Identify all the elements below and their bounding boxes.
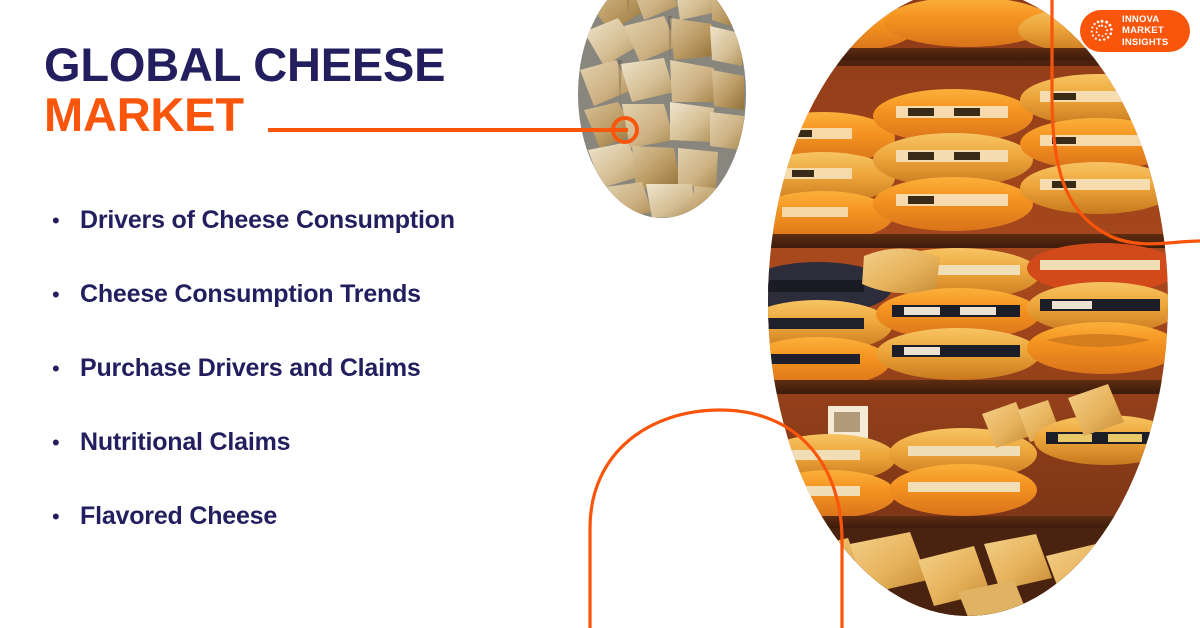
list-item-label: Drivers of Cheese Consumption: [80, 206, 455, 235]
poster-canvas: GLOBAL CHEESE MARKET • Drivers of Cheese…: [0, 0, 1200, 628]
bullet-dot-icon: •: [52, 210, 80, 232]
dots-ring-icon: [1089, 18, 1115, 44]
bullet-dot-icon: •: [52, 284, 80, 306]
list-item[interactable]: • Drivers of Cheese Consumption: [52, 206, 612, 280]
cheese-wheels-illustration: [768, 0, 1168, 616]
logo-line-3: INSIGHTS: [1122, 37, 1168, 48]
list-item-label: Purchase Drivers and Claims: [80, 354, 421, 383]
list-item-label: Flavored Cheese: [80, 502, 277, 531]
list-item[interactable]: • Flavored Cheese: [52, 502, 612, 576]
page-title-line-1: GLOBAL CHEESE: [44, 40, 604, 90]
innova-market-insights-logo[interactable]: INNOVA MARKET INSIGHTS: [1080, 10, 1190, 52]
list-item[interactable]: • Purchase Drivers and Claims: [52, 354, 612, 428]
logo-line-1: INNOVA: [1122, 14, 1168, 25]
innova-dots-circle-icon: [1089, 18, 1115, 44]
bullet-dot-icon: •: [52, 358, 80, 380]
connector-ring-marker: [611, 116, 639, 144]
logo-wordmark: INNOVA MARKET INSIGHTS: [1122, 14, 1168, 48]
bullet-dot-icon: •: [52, 432, 80, 454]
connector-line: [268, 128, 628, 132]
page-title-line-2: MARKET: [44, 90, 604, 140]
logo-line-2: MARKET: [1122, 25, 1168, 36]
list-item[interactable]: • Cheese Consumption Trends: [52, 280, 612, 354]
list-item-label: Nutritional Claims: [80, 428, 290, 457]
cheese-wheels-shelf-photo: [768, 0, 1168, 616]
bullet-dot-icon: •: [52, 506, 80, 528]
page-title: GLOBAL CHEESE MARKET: [44, 40, 604, 140]
list-item-label: Cheese Consumption Trends: [80, 280, 421, 309]
list-item[interactable]: • Nutritional Claims: [52, 428, 612, 502]
topics-list: • Drivers of Cheese Consumption • Cheese…: [52, 206, 612, 576]
